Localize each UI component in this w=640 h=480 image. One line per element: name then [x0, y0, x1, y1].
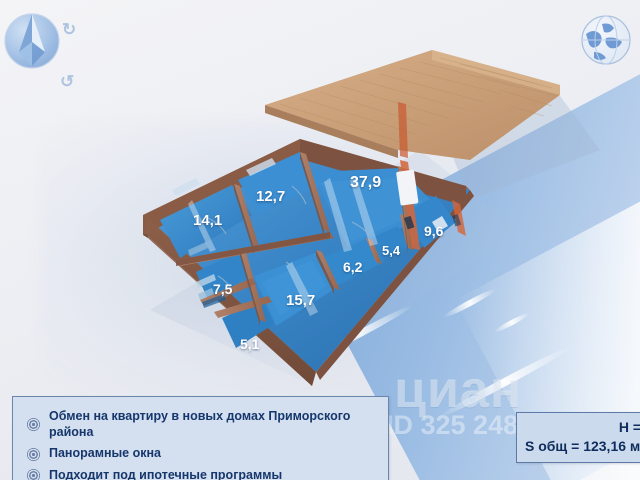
target-bullet-icon: [27, 448, 40, 461]
target-bullet-icon: [27, 469, 40, 480]
feature-item-mortgage: Подходит под ипотечные программы: [13, 465, 388, 480]
features-info-box: Обмен на квартиру в новых домах Приморск…: [12, 396, 389, 480]
feature-item-panoramic-windows: Панорамные окна: [13, 443, 388, 465]
metric-total-area: S общ = 123,16 м²: [525, 437, 640, 456]
feature-label: Подходит под ипотечные программы: [49, 468, 282, 480]
floor-plan-screenshot: циан ID 325 2483 ↻ ↺: [0, 0, 640, 480]
metric-height: H = 3 м: [525, 418, 640, 437]
feature-label: Панорамные окна: [49, 446, 161, 462]
target-bullet-icon: [27, 418, 40, 431]
feature-label: Обмен на квартиру в новых домах Приморск…: [49, 409, 388, 440]
metrics-info-box: H = 3 м S общ = 123,16 м²: [516, 412, 640, 463]
feature-item-exchange: Обмен на квартиру в новых домах Приморск…: [13, 406, 388, 443]
